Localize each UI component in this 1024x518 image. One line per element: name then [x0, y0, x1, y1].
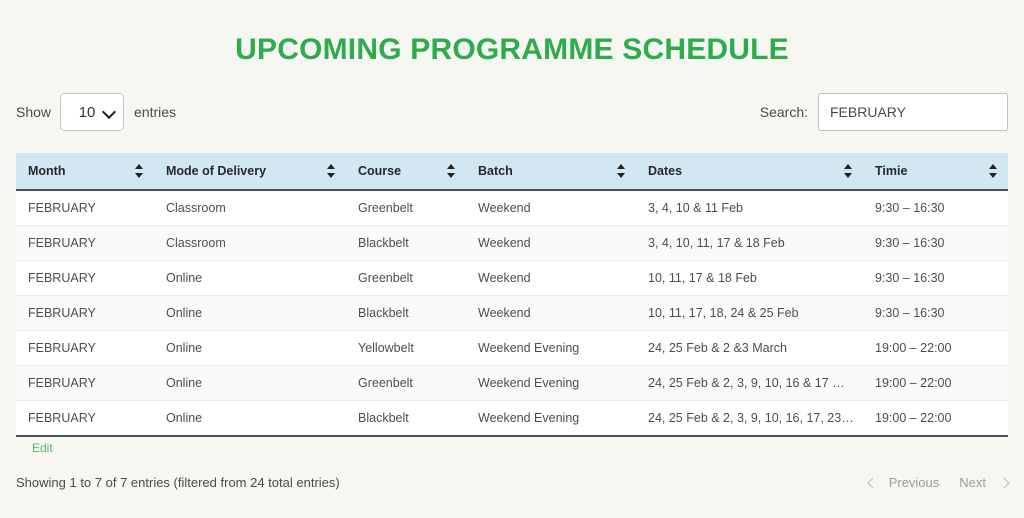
- cell-month: FEBRUARY: [16, 226, 154, 261]
- page-title: UPCOMING PROGRAMME SCHEDULE: [0, 0, 1024, 67]
- cell-month: FEBRUARY: [16, 331, 154, 366]
- entries-per-page-select[interactable]: 10: [60, 93, 124, 131]
- cell-course: Greenbelt: [346, 190, 466, 226]
- cell-batch: Weekend: [466, 296, 636, 331]
- cell-dates: 3, 4, 10 & 11 Feb: [636, 190, 863, 226]
- cell-batch: Weekend Evening: [466, 401, 636, 437]
- cell-mode-of-delivery: Online: [154, 366, 346, 401]
- cell-time: 19:00 – 22:00: [863, 366, 1008, 401]
- cell-batch: Weekend: [466, 261, 636, 296]
- cell-month: FEBRUARY: [16, 401, 154, 437]
- table-row: FEBRUARYOnlineBlackbeltWeekend Evening24…: [16, 401, 1008, 437]
- table-body: FEBRUARYClassroomGreenbeltWeekend3, 4, 1…: [16, 190, 1008, 436]
- cell-mode-of-delivery: Classroom: [154, 190, 346, 226]
- cell-dates: 10, 11, 17 & 18 Feb: [636, 261, 863, 296]
- table-row: FEBRUARYOnlineYellowbeltWeekend Evening2…: [16, 331, 1008, 366]
- sort-icon-time[interactable]: [989, 163, 998, 179]
- cell-mode-of-delivery: Online: [154, 331, 346, 366]
- edit-link[interactable]: Edit: [32, 441, 53, 455]
- entries-label: entries: [134, 104, 176, 120]
- table-footer: Showing 1 to 7 of 7 entries (filtered fr…: [16, 471, 1008, 494]
- sort-icon-month[interactable]: [135, 163, 144, 179]
- column-label-mode-of-delivery: Mode of Delivery: [166, 164, 266, 178]
- cell-dates: 24, 25 Feb & 2 &3 March: [636, 331, 863, 366]
- column-label-dates: Dates: [648, 164, 682, 178]
- cell-dates: 3, 4, 10, 11, 17 & 18 Feb: [636, 226, 863, 261]
- cell-batch: Weekend: [466, 190, 636, 226]
- cell-mode-of-delivery: Online: [154, 261, 346, 296]
- page-root: UPCOMING PROGRAMME SCHEDULE Show 10 entr…: [0, 0, 1024, 518]
- cell-time: 9:30 – 16:30: [863, 261, 1008, 296]
- chevron-down-icon: [102, 105, 116, 119]
- cell-course: Greenbelt: [346, 366, 466, 401]
- cell-course: Yellowbelt: [346, 331, 466, 366]
- cell-time: 9:30 – 16:30: [863, 190, 1008, 226]
- table-info-text: Showing 1 to 7 of 7 entries (filtered fr…: [16, 475, 340, 490]
- column-header-month[interactable]: Month: [16, 153, 154, 190]
- pagination: Previous Next: [869, 471, 1008, 494]
- cell-course: Blackbelt: [346, 226, 466, 261]
- column-header-time[interactable]: Timie: [863, 153, 1008, 190]
- cell-time: 19:00 – 22:00: [863, 331, 1008, 366]
- cell-month: FEBRUARY: [16, 190, 154, 226]
- cell-dates: 10, 11, 17, 18, 24 & 25 Feb: [636, 296, 863, 331]
- entries-per-page-value: 10: [79, 104, 96, 121]
- column-label-course: Course: [358, 164, 401, 178]
- cell-course: Blackbelt: [346, 296, 466, 331]
- column-header-course[interactable]: Course: [346, 153, 466, 190]
- next-page-button[interactable]: Next: [949, 471, 996, 494]
- previous-page-button[interactable]: Previous: [879, 471, 950, 494]
- page-length-control: Show 10 entries: [16, 93, 176, 131]
- table-row: FEBRUARYOnlineGreenbeltWeekend10, 11, 17…: [16, 261, 1008, 296]
- column-header-dates[interactable]: Dates: [636, 153, 863, 190]
- table-row: FEBRUARYOnlineBlackbeltWeekend10, 11, 17…: [16, 296, 1008, 331]
- cell-month: FEBRUARY: [16, 296, 154, 331]
- cell-batch: Weekend: [466, 226, 636, 261]
- schedule-table-wrapper: Month Mode of Delivery Course Batch: [16, 153, 1008, 457]
- chevron-left-icon: [867, 477, 878, 488]
- cell-mode-of-delivery: Online: [154, 401, 346, 437]
- column-label-month: Month: [28, 164, 65, 178]
- column-header-mode-of-delivery[interactable]: Mode of Delivery: [154, 153, 346, 190]
- table-row: FEBRUARYOnlineGreenbeltWeekend Evening24…: [16, 366, 1008, 401]
- cell-batch: Weekend Evening: [466, 366, 636, 401]
- cell-time: 9:30 – 16:30: [863, 226, 1008, 261]
- column-header-batch[interactable]: Batch: [466, 153, 636, 190]
- sort-icon-dates[interactable]: [844, 163, 853, 179]
- cell-month: FEBRUARY: [16, 261, 154, 296]
- column-label-batch: Batch: [478, 164, 513, 178]
- search-input[interactable]: [818, 93, 1008, 131]
- show-label: Show: [16, 104, 51, 120]
- cell-dates: 24, 25 Feb & 2, 3, 9, 10, 16, 17, 23 & 2…: [636, 401, 863, 437]
- cell-course: Greenbelt: [346, 261, 466, 296]
- table-header-row: Month Mode of Delivery Course Batch: [16, 153, 1008, 190]
- cell-dates: 24, 25 Feb & 2, 3, 9, 10, 16 & 17 March: [636, 366, 863, 401]
- cell-mode-of-delivery: Classroom: [154, 226, 346, 261]
- sort-icon-batch[interactable]: [617, 163, 626, 179]
- cell-month: FEBRUARY: [16, 366, 154, 401]
- cell-course: Blackbelt: [346, 401, 466, 437]
- cell-time: 9:30 – 16:30: [863, 296, 1008, 331]
- schedule-table: Month Mode of Delivery Course Batch: [16, 153, 1008, 437]
- table-row: FEBRUARYClassroomGreenbeltWeekend3, 4, 1…: [16, 190, 1008, 226]
- table-head: Month Mode of Delivery Course Batch: [16, 153, 1008, 190]
- search-control: Search:: [760, 93, 1008, 131]
- chevron-right-icon: [998, 477, 1009, 488]
- table-controls: Show 10 entries Search:: [16, 89, 1008, 135]
- search-label: Search:: [760, 104, 808, 120]
- table-row: FEBRUARYClassroomBlackbeltWeekend3, 4, 1…: [16, 226, 1008, 261]
- column-label-time: Timie: [875, 164, 907, 178]
- sort-icon-course[interactable]: [447, 163, 456, 179]
- cell-batch: Weekend Evening: [466, 331, 636, 366]
- cell-mode-of-delivery: Online: [154, 296, 346, 331]
- sort-icon-mode-of-delivery[interactable]: [327, 163, 336, 179]
- cell-time: 19:00 – 22:00: [863, 401, 1008, 437]
